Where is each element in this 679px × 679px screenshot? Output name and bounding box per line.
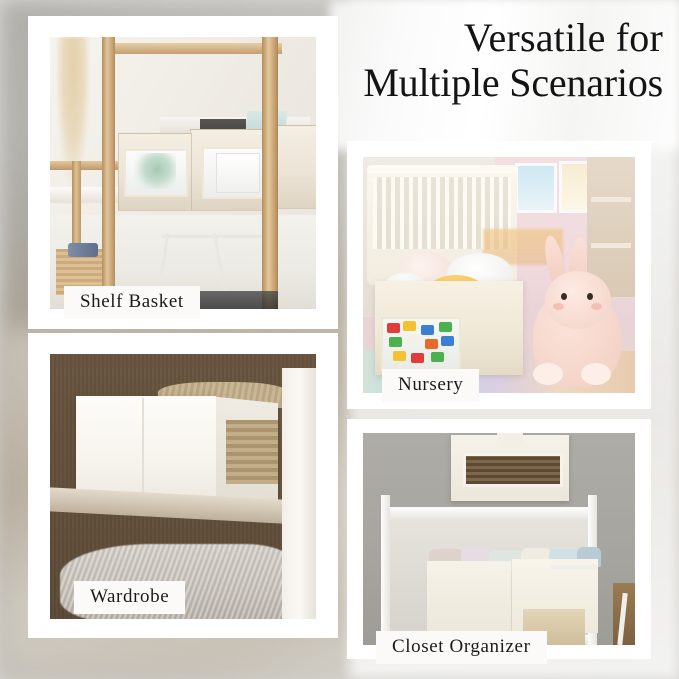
product-feature-image: Versatile for Multiple Scenarios [0,0,679,679]
crib-rail [367,165,517,173]
photo-nursery [363,157,635,393]
white-card [216,153,260,193]
photo-wardrobe [50,354,316,619]
storage-bin-3 [276,125,316,209]
plush-bunny-large [525,237,629,387]
bunny-eye-left [561,293,567,300]
bunny-foot-right [581,363,611,385]
metal-rail [162,233,272,293]
bunny-eye-right [587,293,593,300]
wood-post-right [262,37,278,309]
headline: Versatile for Multiple Scenarios [345,18,663,104]
photo-shelf-basket [50,37,316,309]
wall-art-1 [515,163,557,213]
wood-beam-top [102,43,282,54]
caption-nursery: Nursery [382,369,479,402]
shelf-post-left [381,495,390,645]
closet-scene [363,433,635,645]
wood-post-left [102,37,115,309]
bunny-head [545,271,611,329]
folded-cloth [68,243,98,257]
headline-line-1: Versatile for [345,18,663,59]
caption-shelf-basket: Shelf Basket [64,286,200,319]
toy-bin-window [381,317,461,371]
bin-handle [497,433,523,447]
storage-box [76,396,216,500]
caption-wardrobe: Wardrobe [74,581,185,614]
closet-rail [551,565,597,569]
panel-shelf-basket [28,16,338,329]
bunny-cheek-right [591,303,602,310]
shelf-top-board [381,507,597,519]
photo-closet-organizer [363,433,635,645]
storage-bin-left [427,561,511,633]
storage-bin-top-window [463,453,563,487]
storage-box-divider [142,398,144,498]
caption-closet-organizer: Closet Organizer [376,631,547,664]
plant-print-card [134,153,176,189]
bunny-cheek-left [553,303,564,310]
panel-closet-organizer [347,419,651,659]
wardrobe-scene [50,354,316,619]
nursery-scene [363,157,635,393]
folded-knit-stack [226,420,278,484]
shelf-scene [50,37,316,309]
white-curtain [282,368,316,619]
bunny-foot-left [533,363,563,385]
headline-line-2: Multiple Scenarios [345,63,663,104]
